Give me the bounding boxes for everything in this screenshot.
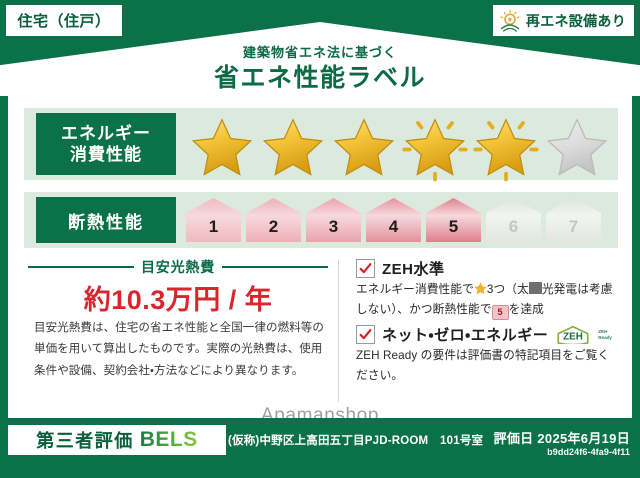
insulation-step-active: 5 [426,198,481,242]
zeh-level-heading: ZEH水準 [356,258,445,279]
star-icon [474,282,487,295]
energy-star-rating [186,111,610,177]
utility-cost-note: 目安光熱費は、住宅の省エネ性能と全国一律の燃料等の単価を用いて算出したものです。… [34,318,326,382]
zeh-logo-icon: ZEH [555,325,591,345]
insulation-performance-row: 断熱性能 1234567 [24,192,618,248]
utility-cost-heading-label: 目安光熱費 [141,257,215,277]
label-title: 省エネ性能ラベル [0,58,640,94]
insulation-step-active: 4 [366,198,421,242]
zeh-body-part2: 3つ（太 [487,283,529,296]
evaluation-id: b9dd24f6-4fa9-4f11 [547,447,630,457]
header-band: 住宅（住戸） 再エ [0,0,640,96]
insulation-performance-label-box: 断熱性能 [36,197,176,243]
insulation-step-active: 1 [186,198,241,242]
insulation-step-label: 7 [569,217,578,237]
star-filled-icon [470,117,542,177]
insulation-label: 断熱性能 [68,208,144,233]
insulation-grade-badge: 5 [492,305,509,320]
heading-rule-right [222,266,328,268]
net-zero-heading: ネット・ゼロ・エネルギー ZEH ZEH Ready [356,324,612,345]
check-icon [356,325,375,344]
zeh-level-body: エネルギー消費性能で3つ（太光発電は考慮しない）、かつ断熱性能で5を達成 [356,280,622,321]
insulation-step-inactive: 7 [546,198,601,242]
heading-rule-left [28,266,134,268]
star-filled-icon [257,117,329,177]
sun-solar-icon [498,9,522,33]
star-filled-icon [328,117,400,177]
footer-band: 第三者評価 BELS (仮称)中野区上高田五丁目PJD-ROOM 101号室 評… [0,418,640,478]
zeh-body-part4: を達成 [509,303,544,316]
star-filled-icon [399,117,471,177]
energy-performance-label-box: エネルギー 消費性能 [36,113,176,175]
zeh-ready-sublabel: ZEH Ready [598,329,612,340]
evaluation-date: 評価日 2025年6月19日 [494,428,630,447]
bels-en-label: BELS [140,428,198,452]
insulation-step-label: 1 [209,217,218,237]
insulation-step-label: 6 [509,217,518,237]
svg-text:ZEH: ZEH [563,331,583,342]
utility-cost-heading: 目安光熱費 [28,258,328,276]
insulation-step-label: 4 [389,217,398,237]
insulation-step-label: 5 [449,217,458,237]
label-card: エネルギー 消費性能 太陽光発電(自家消費)分 断熱性能 1234567 目安光… [8,96,632,418]
house-type-tag-label: 住宅（住戸） [17,10,110,31]
bels-jp-label: 第三者評価 [36,427,134,453]
net-zero-body: ZEH Ready の要件は評価書の特記項目をご覧ください。 [356,346,618,387]
renewable-equipment-tag: 再エネ設備あり [493,5,634,36]
utility-cost-value: 約10.3万円 / 年 [28,278,328,317]
zeh-level-title: ZEH水準 [382,258,445,279]
star-filled-icon [186,117,258,177]
column-divider [338,260,339,402]
net-zero-title: ネット・ゼロ・エネルギー [382,324,548,345]
zeh-body-part1: エネルギー消費性能で [356,283,474,296]
bels-badge: 第三者評価 BELS [8,425,226,455]
insulation-step-scale: 1234567 [186,196,610,244]
star-empty-icon [541,117,613,177]
insulation-step-label: 3 [329,217,338,237]
check-icon [356,259,375,278]
energy-label-line2: 消費性能 [70,144,142,165]
insulation-step-active: 2 [246,198,301,242]
zeh-ready-line2: Ready [598,335,612,340]
insulation-step-label: 2 [269,217,278,237]
renewable-equipment-label: 再エネ設備あり [526,11,626,31]
redacted-block [529,282,542,294]
energy-performance-row: エネルギー 消費性能 [24,108,618,180]
insulation-step-active: 3 [306,198,361,242]
insulation-step-inactive: 6 [486,198,541,242]
energy-label-line1: エネルギー [61,123,151,144]
energy-performance-label: 住宅（住戸） 再エ [0,0,640,478]
zeh-ready-line1: ZEH [598,329,607,334]
property-address: (仮称)中野区上高田五丁目PJD-ROOM 101号室 [228,432,483,448]
house-type-tag: 住宅（住戸） [6,5,122,36]
